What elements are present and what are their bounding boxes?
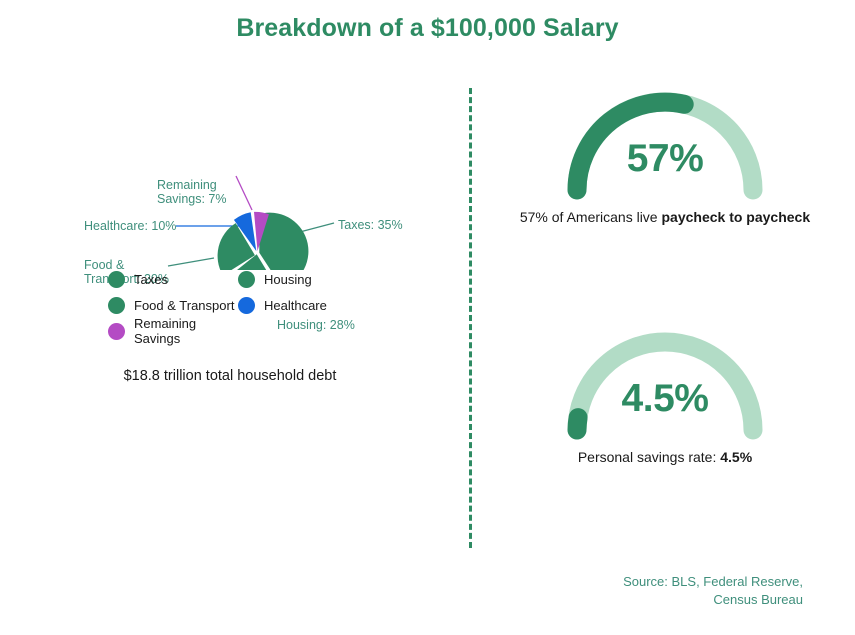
leader-line-savings xyxy=(236,176,252,210)
pie-chart-panel: Taxes: 35% Housing: 28% Food & Transport… xyxy=(0,80,460,580)
gauge-caption-emphasis: 4.5% xyxy=(720,449,752,465)
legend-swatch-icon xyxy=(238,271,255,288)
leader-line-food xyxy=(168,258,214,266)
pie-label-healthcare: Healthcare: 10% xyxy=(84,219,176,233)
legend-item-housing[interactable]: Housing xyxy=(238,271,312,288)
gauge-figure-paycheck: 57% xyxy=(500,85,830,203)
pie-label-remaining-savings: Remaining Savings: 7% xyxy=(157,178,226,206)
gauge-paycheck-to-paycheck: 57% 57% of Americans live paycheck to pa… xyxy=(500,85,830,227)
legend-item-food-transport[interactable]: Food & Transport xyxy=(108,297,238,314)
legend-label: Food & Transport xyxy=(134,298,234,313)
legend-row: Remaining Savings xyxy=(108,318,408,344)
legend-label: Healthcare xyxy=(264,298,327,313)
gauge-value-savings: 4.5% xyxy=(500,377,830,421)
gauge-personal-savings-rate: 4.5% Personal savings rate: 4.5% xyxy=(500,325,830,467)
pie-label-taxes: Taxes: 35% xyxy=(338,218,403,232)
pie-legend: Taxes Housing Food & Transport Healthcar… xyxy=(108,266,408,344)
legend-label: Taxes xyxy=(134,272,168,287)
pie-chart-svg xyxy=(0,80,460,270)
gauge-caption-emphasis: paycheck to paycheck xyxy=(661,209,810,225)
gauge-caption-paycheck: 57% of Americans live paycheck to payche… xyxy=(500,207,830,227)
gauge-caption-prefix: 57% of Americans live xyxy=(520,209,662,225)
legend-swatch-icon xyxy=(108,271,125,288)
legend-item-remaining-savings[interactable]: Remaining Savings xyxy=(108,316,238,346)
legend-swatch-icon xyxy=(108,297,125,314)
source-note: Source: BLS, Federal Reserve, Census Bur… xyxy=(503,573,803,609)
gauge-value-paycheck: 57% xyxy=(500,137,830,181)
vertical-dashed-divider xyxy=(469,88,472,548)
legend-item-healthcare[interactable]: Healthcare xyxy=(238,297,327,314)
gauge-caption-prefix: Personal savings rate: xyxy=(578,449,720,465)
legend-label: Housing xyxy=(264,272,312,287)
legend-row: Food & Transport Healthcare xyxy=(108,292,408,318)
household-debt-note: $18.8 trillion total household debt xyxy=(0,368,460,384)
legend-swatch-icon xyxy=(108,323,125,340)
legend-label: Remaining Savings xyxy=(134,316,238,346)
gauge-caption-savings: Personal savings rate: 4.5% xyxy=(500,447,830,467)
legend-row: Taxes Housing xyxy=(108,266,408,292)
legend-swatch-icon xyxy=(238,297,255,314)
legend-item-taxes[interactable]: Taxes xyxy=(108,271,238,288)
page-title: Breakdown of a $100,000 Salary xyxy=(0,14,855,43)
gauge-figure-savings: 4.5% xyxy=(500,325,830,443)
pie-chart-figure: Taxes: 35% Housing: 28% Food & Transport… xyxy=(0,80,460,270)
